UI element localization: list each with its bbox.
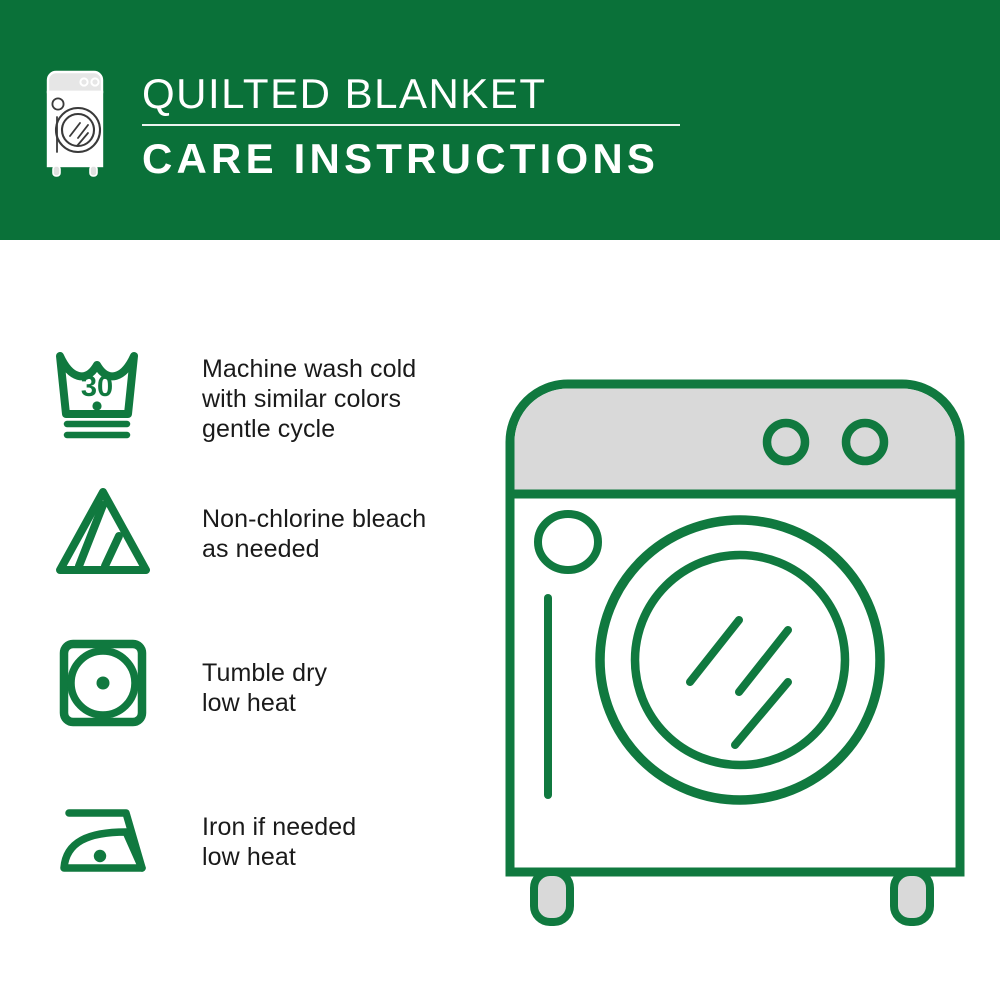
header-banner: QUILTED BLANKET CARE INSTRUCTIONS <box>0 0 1000 240</box>
title-divider <box>142 124 680 126</box>
washer-leg <box>894 872 930 922</box>
list-item: Iron if needed low heat <box>50 788 480 894</box>
list-item: 30 Machine wash cold with similar colors… <box>50 340 480 446</box>
svg-text:30: 30 <box>81 371 113 403</box>
iron-low-heat-icon <box>50 788 156 894</box>
page-title-primary: QUILTED BLANKET <box>142 70 702 118</box>
list-item-label: Tumble dry low heat <box>202 630 327 718</box>
washer-leg <box>534 872 570 922</box>
list-item: Non-chlorine bleach as needed <box>50 480 480 586</box>
wash-tub-30-gentle-icon: 30 <box>50 340 156 446</box>
page-title-secondary: CARE INSTRUCTIONS <box>142 134 702 184</box>
list-item-label: Iron if needed low heat <box>202 788 356 872</box>
care-instruction-list: 30 Machine wash cold with similar colors… <box>0 240 500 1000</box>
header-title-block: QUILTED BLANKET CARE INSTRUCTIONS <box>142 70 702 184</box>
list-item-label: Machine wash cold with similar colors ge… <box>202 340 416 444</box>
content-area: 30 Machine wash cold with similar colors… <box>0 240 1000 1000</box>
non-chlorine-bleach-triangle-icon <box>50 480 156 586</box>
tumble-dry-low-heat-icon <box>50 630 156 736</box>
control-panel <box>515 389 956 495</box>
washing-machine-icon <box>44 68 106 180</box>
front-load-washing-machine-illustration <box>490 330 980 940</box>
list-item-label: Non-chlorine bleach as needed <box>202 480 426 564</box>
list-item: Tumble dry low heat <box>50 630 480 736</box>
